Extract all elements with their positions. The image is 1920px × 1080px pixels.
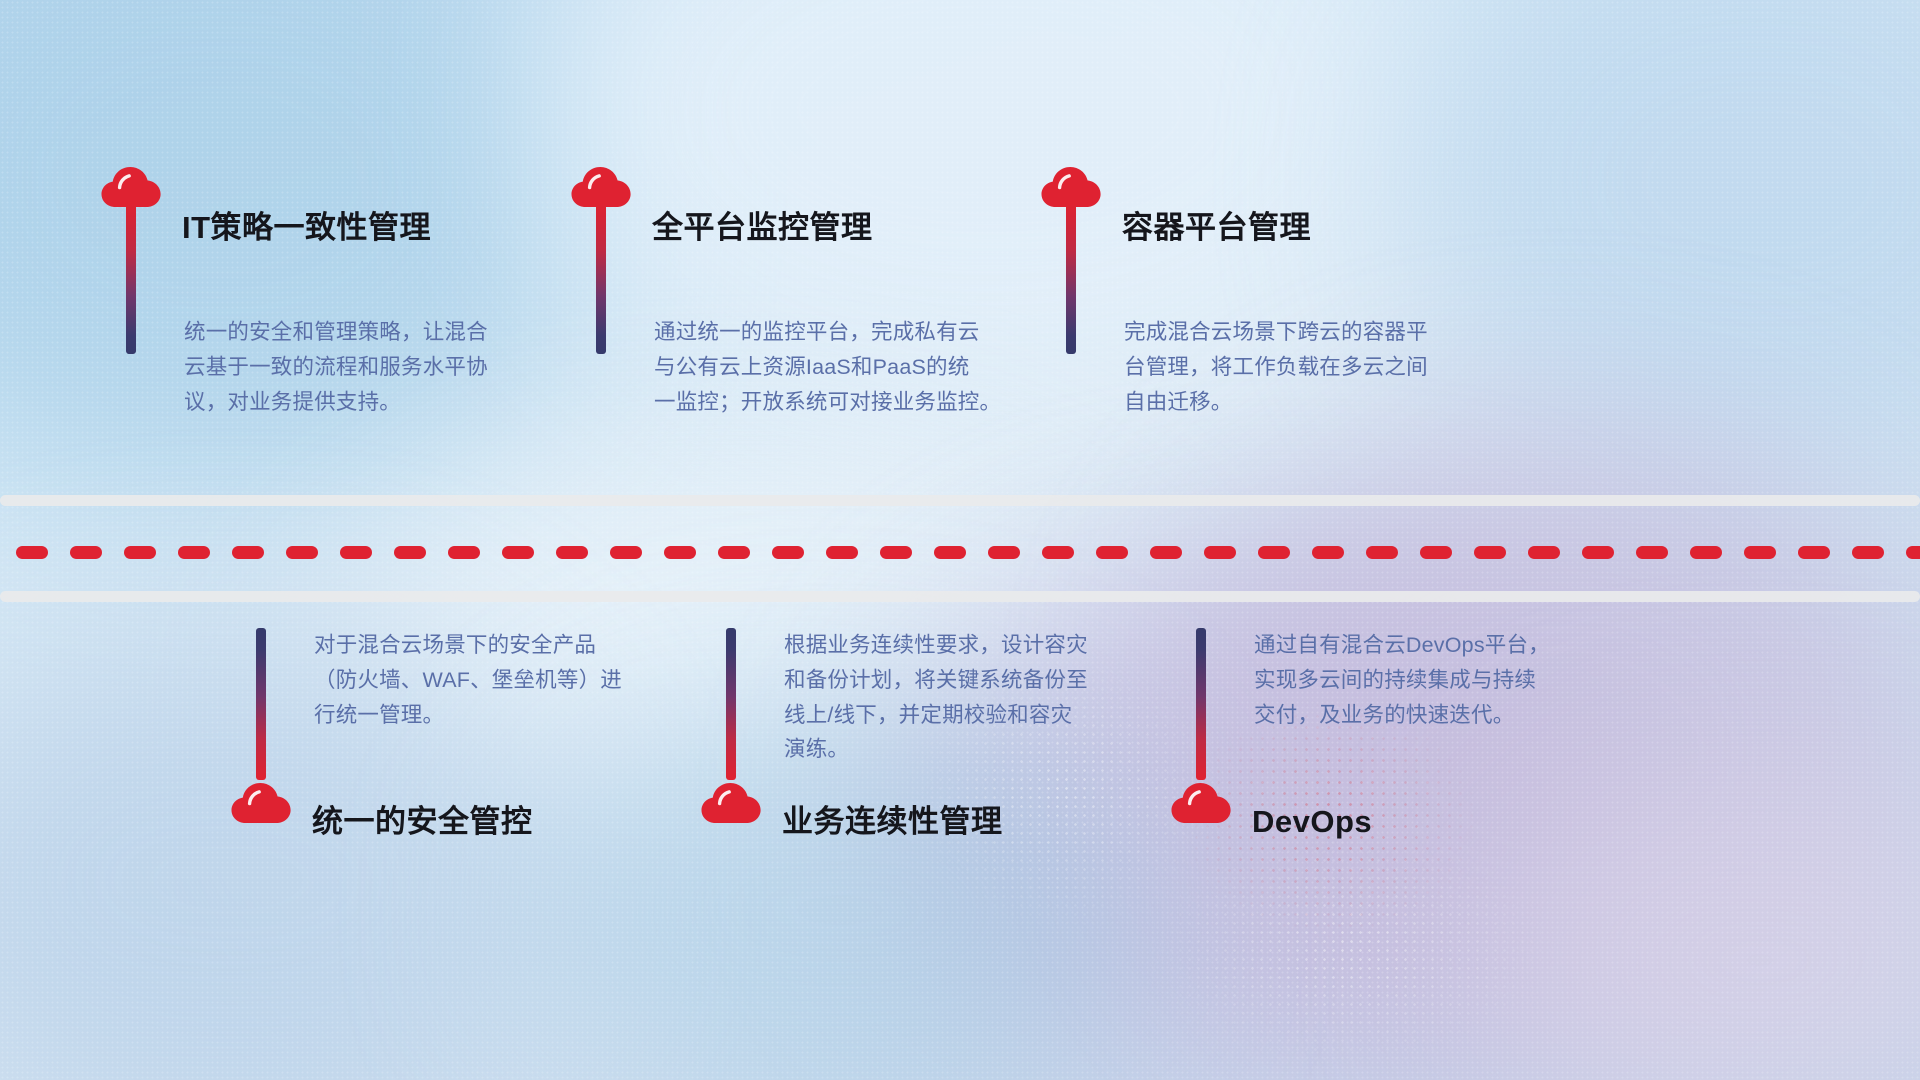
item-body: 对于混合云场景下的安全产品 （防火墙、WAF、堡垒机等）进 行统一管理。 [314,628,744,732]
road-dash [70,546,102,559]
road-dash [772,546,804,559]
item-title: 全平台监控管理 [652,212,873,243]
road-dash [124,546,156,559]
road-dash [1636,546,1668,559]
road-dash [610,546,642,559]
cloud-icon [700,776,762,824]
road-dash [718,546,750,559]
road-dash [1258,546,1290,559]
pin-stem [126,202,136,354]
road-dash [232,546,264,559]
road-dash [1798,546,1830,559]
road-dash [16,546,48,559]
road-dash [934,546,966,559]
cloud-icon [1170,776,1232,824]
pin-stem [1066,202,1076,354]
background-texture [0,0,1920,1080]
road-dash [1906,546,1920,559]
cloud-icon [570,160,632,208]
cloud-icon [230,776,292,824]
road-dash [826,546,858,559]
pin-stem [596,202,606,354]
road-dash [988,546,1020,559]
item-title: DevOps [1252,806,1372,837]
road-dash [1528,546,1560,559]
road-dash [880,546,912,559]
road-dash [1474,546,1506,559]
item-title: 容器平台管理 [1122,212,1311,243]
cloud-icon [1040,160,1102,208]
road-dash [340,546,372,559]
road-dash [394,546,426,559]
item-title: 统一的安全管控 [312,806,533,837]
road-edge-top [0,495,1920,506]
road-dash [1312,546,1344,559]
pin-stem [1196,628,1206,780]
item-title: 业务连续性管理 [782,806,1003,837]
pin-stem [256,628,266,780]
infographic-canvas: IT策略一致性管理 统一的安全和管理策略，让混合 云基于一致的流程和服务水平协 … [0,0,1920,1080]
road-dash [1150,546,1182,559]
road-dash [1420,546,1452,559]
cloud-icon [100,160,162,208]
road-center-dashes [0,546,1920,559]
item-body: 通过自有混合云DevOps平台， 实现多云间的持续集成与持续 交付，及业务的快速… [1254,628,1684,732]
item-title: IT策略一致性管理 [182,212,431,243]
road-dash [1204,546,1236,559]
road-dash [1852,546,1884,559]
road-dash [556,546,588,559]
road-dash [1042,546,1074,559]
road-dash [1690,546,1722,559]
item-body: 根据业务连续性要求，设计容灾 和备份计划，将关键系统备份至 线上/线下，并定期校… [784,628,1214,767]
road-dash [664,546,696,559]
road-dash [502,546,534,559]
pin-stem [726,628,736,780]
item-body: 通过统一的监控平台，完成私有云 与公有云上资源IaaS和PaaS的统 一监控；开… [654,315,1084,419]
road-dash [1366,546,1398,559]
road-dash [1096,546,1128,559]
road-dash [286,546,318,559]
item-body: 统一的安全和管理策略，让混合 云基于一致的流程和服务水平协 议，对业务提供支持。 [184,315,614,419]
road-dash [1744,546,1776,559]
item-body: 完成混合云场景下跨云的容器平 台管理，将工作负载在多云之间 自由迁移。 [1124,315,1554,419]
road-edge-bottom [0,591,1920,602]
road-dash [1582,546,1614,559]
road-dash [448,546,480,559]
road-dash [178,546,210,559]
